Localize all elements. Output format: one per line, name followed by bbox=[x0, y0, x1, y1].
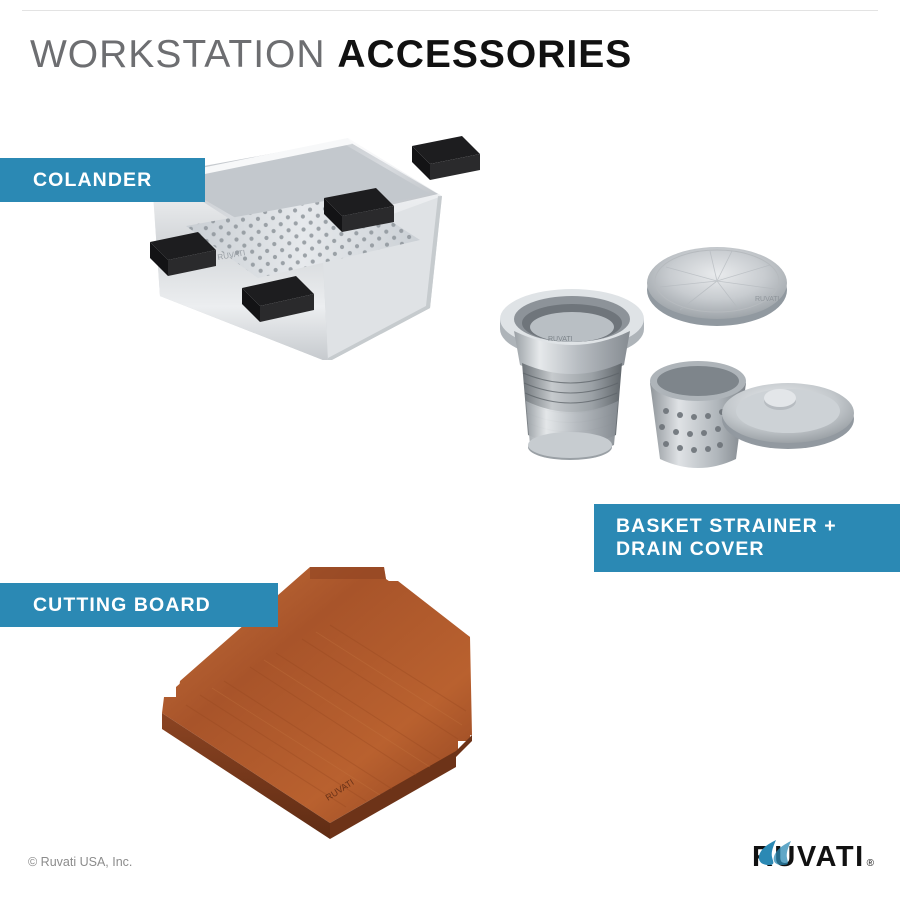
drain-cover: RUVATI bbox=[647, 247, 787, 326]
label-cutting-board-text: CUTTING BOARD bbox=[33, 594, 211, 617]
label-cutting-board: CUTTING BOARD bbox=[0, 583, 278, 627]
strainer-lid bbox=[722, 383, 854, 449]
page-title-light: WORKSTATION bbox=[30, 33, 326, 76]
svg-text:RUVATI: RUVATI bbox=[755, 296, 780, 303]
basket-strainer-image: RUVATI bbox=[470, 215, 870, 490]
copyright-text: © Ruvati USA, Inc. bbox=[28, 855, 132, 869]
water-drop-icon bbox=[756, 838, 800, 868]
label-basket-line1: BASKET STRAINER + bbox=[616, 515, 837, 538]
label-colander-text: COLANDER bbox=[33, 169, 152, 192]
label-colander: COLANDER bbox=[0, 158, 205, 202]
page-title-bold: ACCESSORIES bbox=[337, 33, 632, 76]
strainer-body: RUVATI bbox=[500, 289, 644, 460]
label-basket-strainer: BASKET STRAINER + DRAIN COVER bbox=[594, 504, 900, 572]
svg-text:RUVATI: RUVATI bbox=[548, 336, 573, 343]
colander-image: RUVATI bbox=[90, 100, 490, 360]
page-title: WORKSTATION ACCESSORIES bbox=[30, 33, 632, 77]
top-divider bbox=[22, 10, 878, 11]
label-basket-line2: DRAIN COVER bbox=[616, 538, 837, 561]
product-feature-page: WORKSTATION ACCESSORIES bbox=[0, 0, 900, 900]
brand-registered-mark: ® bbox=[867, 858, 874, 869]
